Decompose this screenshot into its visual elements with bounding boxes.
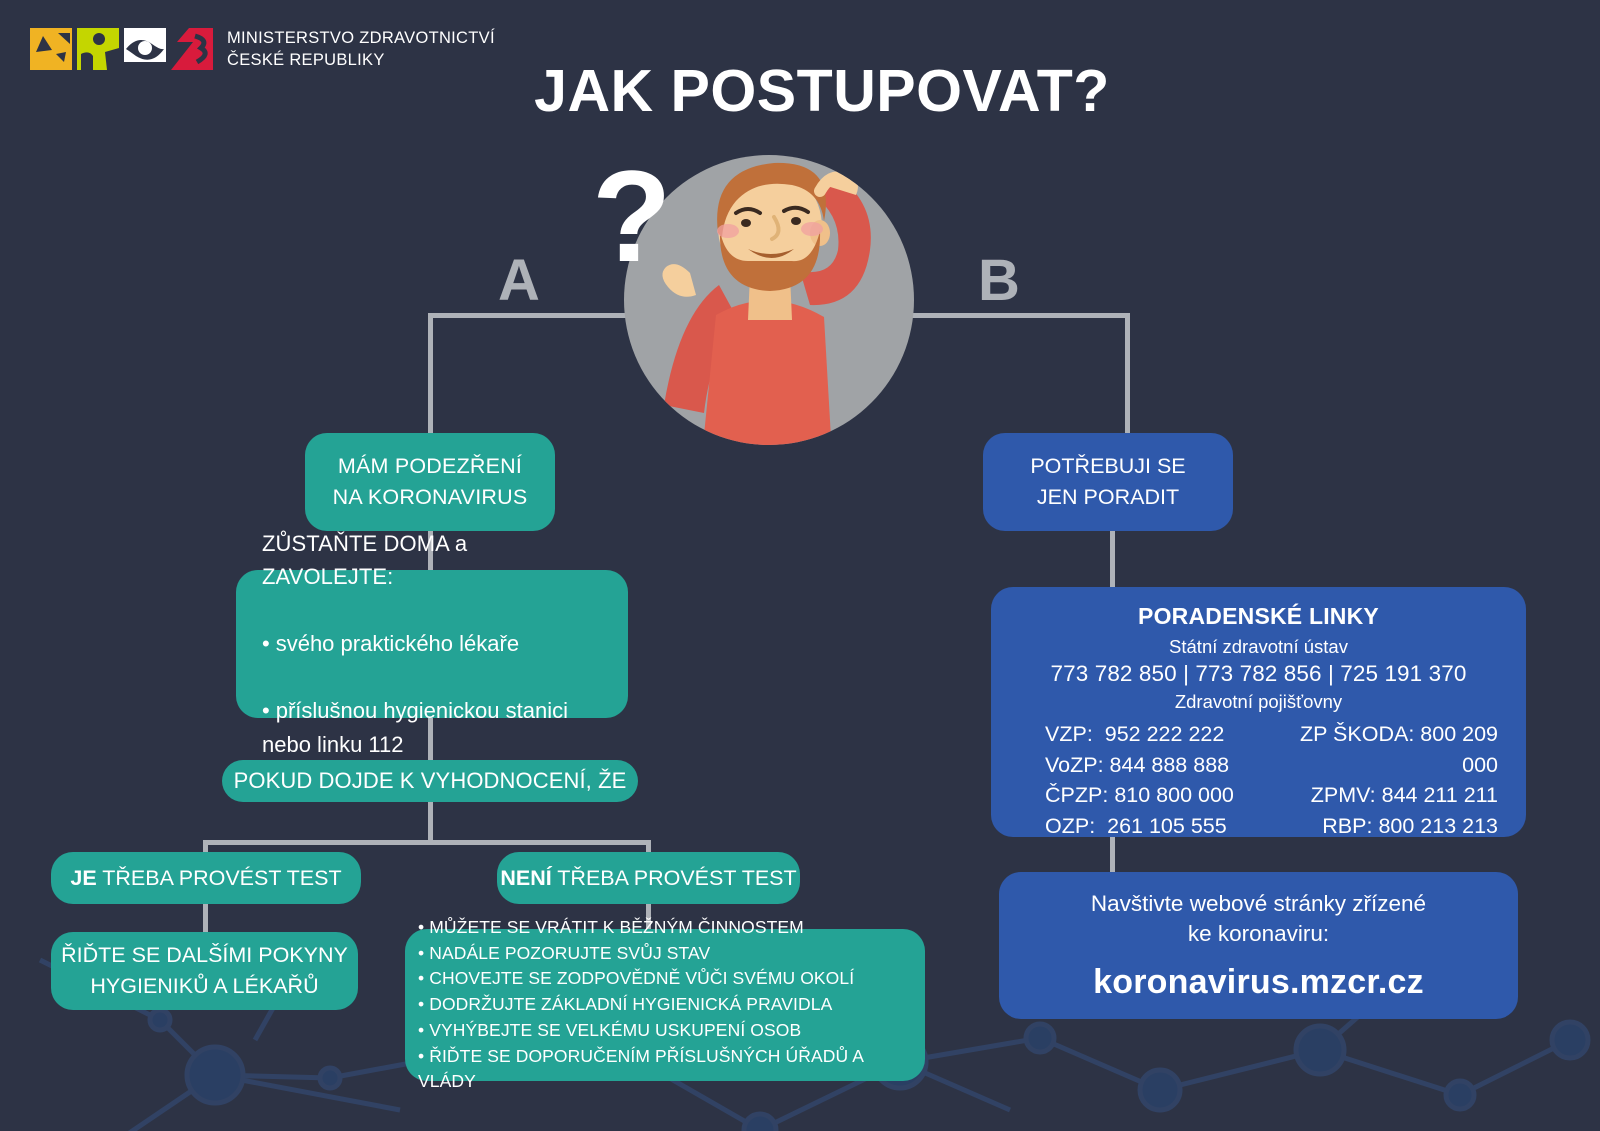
box-no-test[interactable]: NENÍ TŘEBA PROVÉST TEST [497,852,800,904]
infographic-canvas: MINISTERSTVO ZDRAVOTNICTVÍ ČESKÉ REPUBLI… [0,0,1600,1131]
box-follow-instructions[interactable]: ŘIĎTE SE DALŠÍMI POKYNY HYGIENIKŮ A LÉKA… [51,932,358,1010]
box-follow-text: ŘIĎTE SE DALŠÍMI POKYNY HYGIENIKŮ A LÉKA… [61,940,348,1002]
box-suspicion[interactable]: MÁM PODEZŘENÍ NA KORONAVIRUS [305,433,555,531]
insurer-name: ZPMV: [1311,780,1376,811]
no-test-line: NENÍ TŘEBA PROVÉST TEST [500,866,796,891]
page-title: JAK POSTUPOVAT? [0,57,1600,125]
recommendation-item: •MŮŽETE SE VRÁTIT K BĚŽNÝM ČINNOSTEM [418,915,925,941]
insurer-number[interactable]: 810 800 000 [1114,783,1234,807]
connector-b-vertical [1125,313,1130,435]
box-advice-text: POTŘEBUJI SE JEN PORADIT [1030,451,1185,513]
box-website[interactable]: Navštivte webové stránky zřízené ke koro… [999,872,1518,1019]
need-test-strong: JE [70,866,96,890]
box-stay-home[interactable]: ZŮSTAŇTE DOMA a ZAVOLEJTE: •svého prakti… [236,570,628,718]
insurer-column-right: ZP ŠKODA: 800 209 000 ZPMV: 844 211 211 … [1259,719,1505,841]
insurer-phone-grid: VZP: 952 222 222 VoZP: 844 888 888 ČPZP:… [1013,719,1504,841]
recommendation-item: •VYHÝBEJTE SE VELKÉMU USKUPENÍ OSOB [418,1018,925,1044]
insurer-name: VZP: [1045,719,1093,750]
insurer-row: VoZP: 844 888 888 [1045,750,1259,781]
connector-test-split-horizontal [203,840,651,845]
insurer-number[interactable]: 844 888 888 [1110,753,1230,777]
insurer-number[interactable]: 261 105 555 [1107,814,1227,838]
stay-home-item: •svého praktického lékaře [262,594,602,661]
bullet-icon: • [418,943,424,963]
insurers-label: Zdravotní pojišťovny [1013,691,1504,713]
recommendation-item: •DODRŽUJTE ZÁKLADNÍ HYGIENICKÁ PRAVIDLA [418,992,925,1018]
page-title-text: JAK POSTUPOVAT? [534,58,1110,124]
recommendation-text: DODRŽUJTE ZÁKLADNÍ HYGIENICKÁ PRAVIDLA [429,994,832,1014]
branch-label-a: A [498,247,540,314]
no-test-rest: TŘEBA PROVÉST TEST [552,866,797,890]
box-suspicion-text: MÁM PODEZŘENÍ NA KORONAVIRUS [333,451,528,513]
box-evaluation[interactable]: POKUD DOJDE K VYHODNOCENÍ, ŽE [222,760,638,802]
insurer-row: ZP ŠKODA: 800 209 000 [1259,719,1499,780]
box-evaluation-text: POKUD DOJDE K VYHODNOCENÍ, ŽE [234,768,627,794]
need-test-line: JE TŘEBA PROVÉST TEST [70,866,341,891]
website-intro-text: Navštivte webové stránky zřízené ke koro… [1091,889,1426,950]
connector-evaluation-stem [428,802,433,842]
bullet-icon: • [418,994,424,1014]
hotlines-title: PORADENSKÉ LINKY [1013,603,1504,630]
bullet-icon: • [262,631,270,656]
box-need-test[interactable]: JE TŘEBA PROVÉST TEST [51,852,361,904]
insurer-name: VoZP: [1045,750,1104,781]
insurer-row: OZP: 261 105 555 [1045,811,1259,842]
connector-a-vertical [428,313,433,435]
stay-home-list: •svého praktického lékaře •příslušnou hy… [262,594,602,761]
bullet-icon: • [418,917,424,937]
bullet-icon: • [418,1020,424,1040]
hotlines-organization: Státní zdravotní ústav [1013,636,1504,658]
box-recommendations[interactable]: •MŮŽETE SE VRÁTIT K BĚŽNÝM ČINNOSTEM •NA… [405,929,925,1081]
insurer-name: ČPZP: [1045,780,1108,811]
recommendation-text: MŮŽETE SE VRÁTIT K BĚŽNÝM ČINNOSTEM [429,917,804,937]
recommendation-text: CHOVEJTE SE ZODPOVĚDNĚ VŮČI SVÉMU OKOLÍ [429,968,854,988]
recommendation-text: VYHÝBEJTE SE VELKÉMU USKUPENÍ OSOB [429,1020,801,1040]
insurer-name: ZP ŠKODA: [1300,719,1414,750]
recommendation-item: •CHOVEJTE SE ZODPOVĚDNĚ VŮČI SVÉMU OKOLÍ [418,966,925,992]
insurer-row: ZPMV: 844 211 211 [1259,780,1499,811]
insurer-number[interactable]: 952 222 222 [1105,722,1225,746]
stay-home-item-text: příslušnou hygienickou stanici nebo link… [262,698,568,756]
stay-home-header: ZŮSTAŇTE DOMA a ZAVOLEJTE: [262,527,602,594]
stay-home-item-text: svého praktického lékaře [276,631,519,656]
stay-home-item: •příslušnou hygienickou stanici nebo lin… [262,661,602,761]
need-test-rest: TŘEBA PROVÉST TEST [97,866,342,890]
insurer-number[interactable]: 800 209 000 [1420,722,1498,777]
recommendation-item: •ŘIĎTE SE DOPORUČENÍM PŘÍSLUŠNÝCH ÚŘADŮ … [418,1044,925,1095]
recommendation-item: •NADÁLE POZORUJTE SVŮJ STAV [418,941,925,967]
insurer-row: ČPZP: 810 800 000 [1045,780,1259,811]
bullet-icon: • [262,698,270,723]
question-mark-icon: ? [586,163,678,281]
insurer-name: RBP: [1322,811,1372,842]
website-url[interactable]: koronavirus.mzcr.cz [1093,963,1424,1002]
hotlines-phone-numbers[interactable]: 773 782 850 | 773 782 856 | 725 191 370 [1013,661,1504,687]
connector-need-test-to-follow [203,904,208,934]
bullet-icon: • [418,968,424,988]
insurer-row: VZP: 952 222 222 [1045,719,1259,750]
insurer-row: RBP: 800 213 213 [1259,811,1499,842]
box-need-advice[interactable]: POTŘEBUJI SE JEN PORADIT [983,433,1233,531]
no-test-strong: NENÍ [500,866,551,890]
recommendation-text: NADÁLE POZORUJTE SVŮJ STAV [429,943,710,963]
recommendations-list: •MŮŽETE SE VRÁTIT K BĚŽNÝM ČINNOSTEM •NA… [418,915,925,1095]
connector-hotlines-to-website [1110,837,1115,874]
svg-text:?: ? [592,163,671,281]
insurer-column-left: VZP: 952 222 222 VoZP: 844 888 888 ČPZP:… [1013,719,1259,841]
insurer-number[interactable]: 844 211 211 [1382,783,1498,807]
box-hotlines[interactable]: PORADENSKÉ LINKY Státní zdravotní ústav … [991,587,1526,837]
branch-label-b: B [978,247,1020,314]
insurer-number[interactable]: 800 213 213 [1378,814,1498,838]
insurer-name: OZP: [1045,811,1095,842]
recommendation-text: ŘIĎTE SE DOPORUČENÍM PŘÍSLUŠNÝCH ÚŘADŮ A… [418,1046,863,1092]
bullet-icon: • [418,1046,424,1066]
connector-advice-to-hotlines [1110,531,1115,589]
